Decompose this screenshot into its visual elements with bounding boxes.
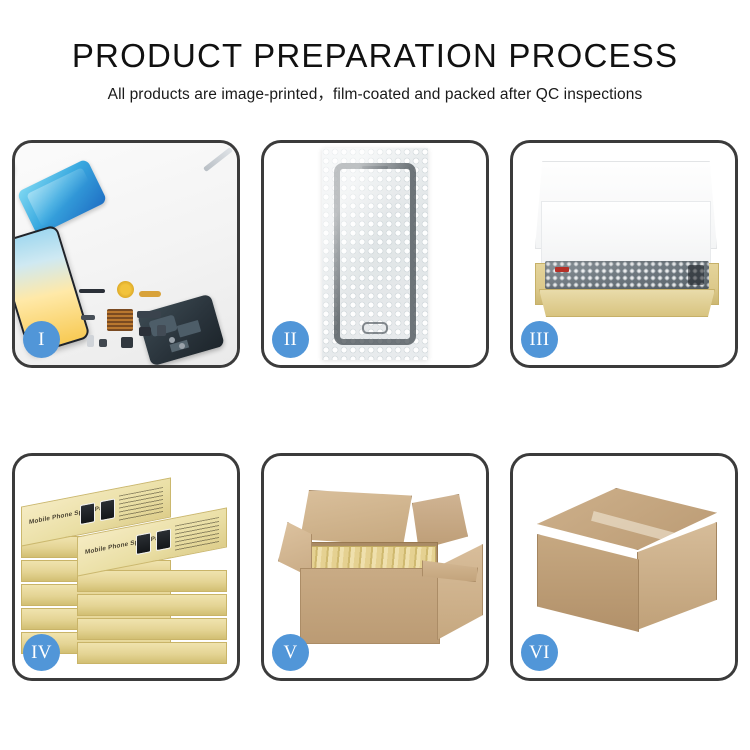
part-coil-icon <box>117 281 134 298</box>
stacked-box-slab <box>77 570 227 592</box>
carton-flap-tab-upper <box>576 621 586 639</box>
step-badge-5: V <box>272 634 309 671</box>
part-chip-2-icon <box>157 325 166 336</box>
box-lid-thumbnail <box>80 502 95 525</box>
step-badge-2: II <box>272 321 309 358</box>
wrapped-screen-outline <box>334 163 416 345</box>
foam-padding <box>541 201 711 267</box>
carton-front-face <box>300 568 440 644</box>
page-subtitle: All products are image-printed，film-coat… <box>0 85 750 105</box>
part-grid-board-icon <box>107 309 133 331</box>
inner-box-front-face <box>539 289 715 317</box>
box-lid-spec-lines <box>119 487 163 522</box>
step-panel-2[interactable]: II <box>261 140 489 368</box>
step-panel-3[interactable]: III <box>510 140 738 368</box>
carton-right-face <box>437 544 483 640</box>
step-panel-4[interactable]: Mobile Phone Spare Parts Mobile Phone Sp… <box>12 453 240 681</box>
part-chip-1-icon <box>139 327 151 336</box>
process-step-grid: I II III <box>12 140 738 681</box>
step-panel-5[interactable]: V <box>261 453 489 681</box>
part-bar-icon <box>79 289 105 293</box>
part-screw-2-icon <box>179 343 185 349</box>
box-lid-spec-lines <box>175 517 219 552</box>
stacked-box-slab <box>77 594 227 616</box>
wrapped-screen-in-box <box>545 261 709 289</box>
part-connector-icon <box>81 315 95 320</box>
page-header: PRODUCT PREPARATION PROCESS All products… <box>0 0 750 105</box>
box-lid-thumbnail <box>156 528 171 551</box>
step-badge-4: IV <box>23 634 60 671</box>
sealed-carton-front-face <box>537 534 639 632</box>
page-title: PRODUCT PREPARATION PROCESS <box>0 36 750 76</box>
step-badge-3: III <box>521 321 558 358</box>
part-speaker-icon <box>99 339 107 347</box>
carton-flap-top <box>300 490 412 546</box>
box-lid-thumbnail <box>136 532 151 555</box>
part-camera-module-icon <box>121 337 133 348</box>
carton-flap-tab-lower <box>578 677 588 678</box>
stacked-box-slab <box>77 642 227 664</box>
box-lid-thumbnail <box>100 498 115 521</box>
step-badge-6: VI <box>521 634 558 671</box>
step-panel-1[interactable]: I <box>12 140 240 368</box>
step-badge-1: I <box>23 321 60 358</box>
bubble-wrap-sheet <box>322 148 428 360</box>
part-flex-cable-gold-icon <box>139 291 161 297</box>
part-sim-tray-icon <box>87 335 94 347</box>
part-flex-cable-dark-icon <box>137 311 161 318</box>
step-panel-6[interactable]: VI <box>510 453 738 681</box>
spare-parts-group <box>77 279 197 361</box>
screen-label-sticker <box>555 267 569 272</box>
part-screw-1-icon <box>169 337 175 343</box>
stacked-box-slab <box>77 618 227 640</box>
